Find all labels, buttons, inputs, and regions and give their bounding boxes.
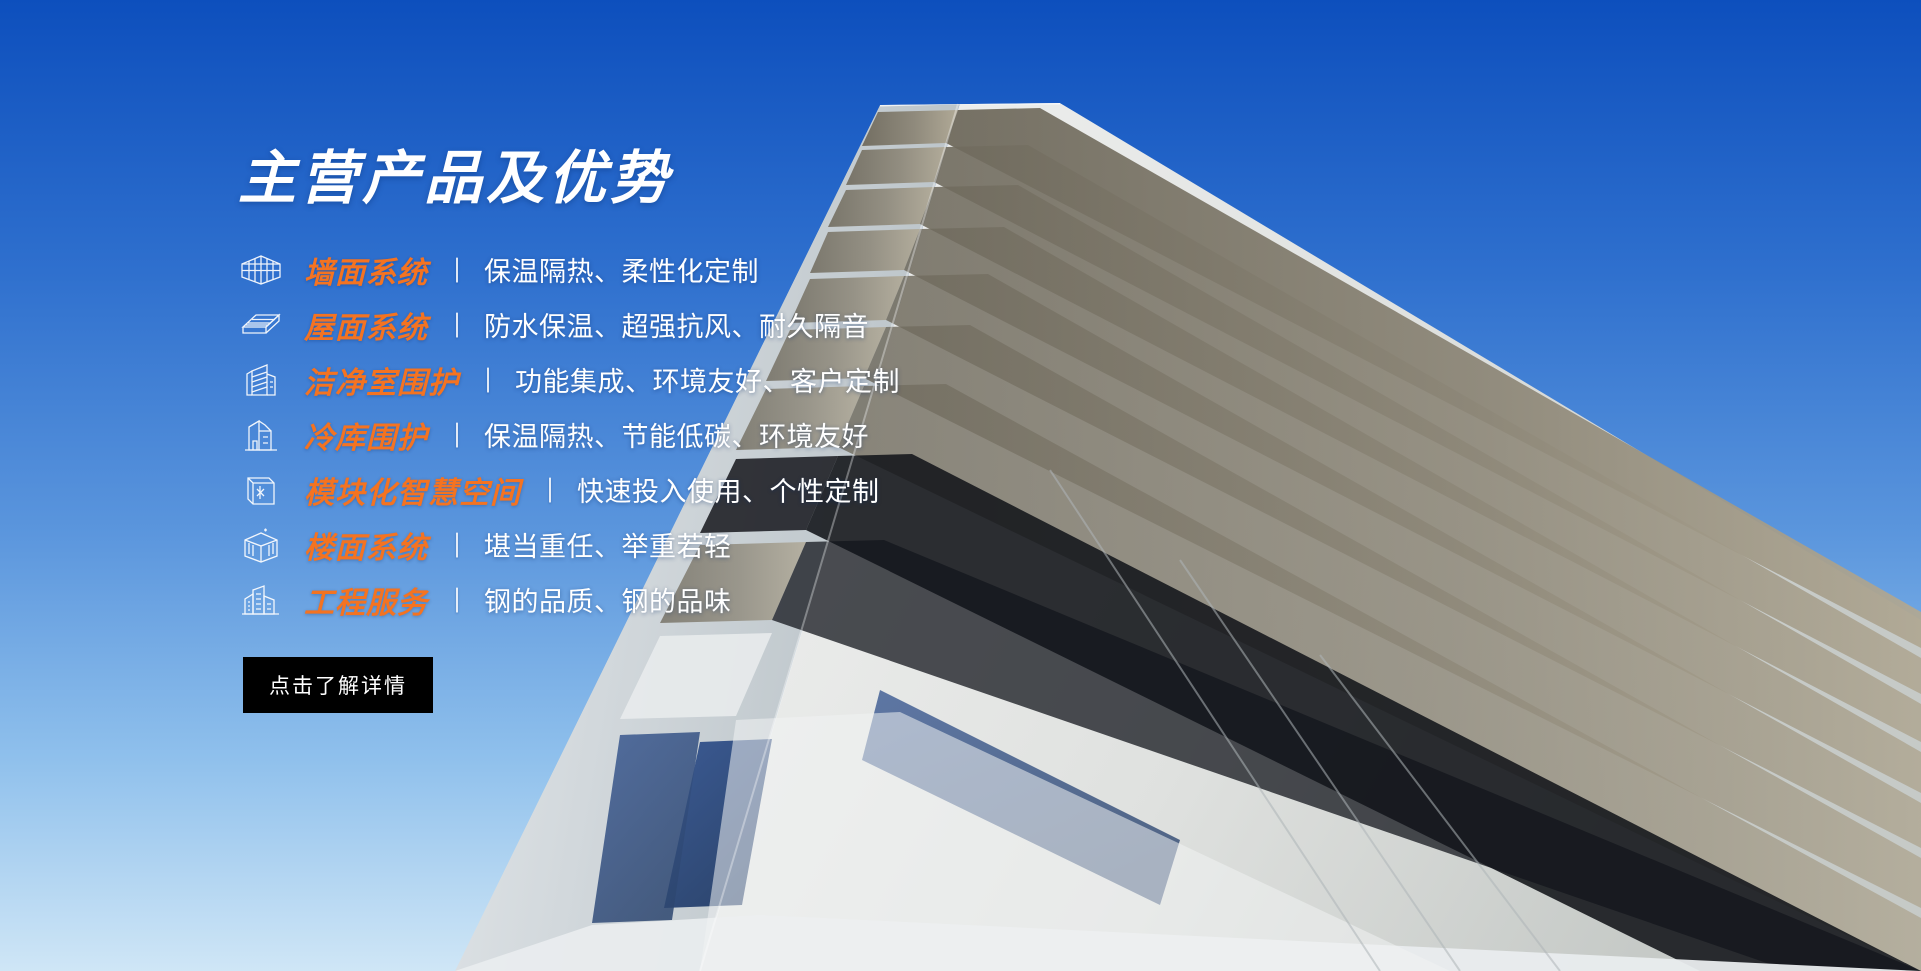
feature-name: 墙面系统 [304,248,428,292]
engineering-service-icon [238,580,284,620]
product-feature-list: 墙面系统 丨 保温隔热、柔性化定制 屋面系统 丨 防水保温、超强抗风、耐久隔音 [238,242,1138,627]
list-item[interactable]: 屋面系统 丨 防水保温、超强抗风、耐久隔音 [238,297,1138,352]
feature-separator: 丨 [450,526,464,563]
list-item[interactable]: 工程服务 丨 钢的品质、钢的品味 [238,572,1138,627]
list-item[interactable]: 洁净室围护 丨 功能集成、环境友好、客户定制 [238,352,1138,407]
list-item[interactable]: 楼面系统 丨 堪当重任、举重若轻 [238,517,1138,572]
feature-separator: 丨 [481,361,495,398]
cold-storage-icon [238,415,284,455]
feature-name: 工程服务 [304,578,428,622]
feature-name: 模块化智慧空间 [304,468,521,512]
floor-deck-icon [238,525,284,565]
feature-separator: 丨 [450,251,464,288]
feature-description: 功能集成、环境友好、客户定制 [515,360,900,399]
feature-separator: 丨 [450,581,464,618]
feature-description: 防水保温、超强抗风、耐久隔音 [484,305,869,344]
cleanroom-building-icon [238,360,284,400]
feature-description: 快速投入使用、个性定制 [577,470,880,509]
page-title: 主营产品及优势 [238,150,1138,208]
list-item[interactable]: 墙面系统 丨 保温隔热、柔性化定制 [238,242,1138,297]
feature-description: 保温隔热、柔性化定制 [484,250,759,289]
feature-separator: 丨 [450,416,464,453]
banner-content: 主营产品及优势 墙面系统 丨 保温隔热、柔性化定制 [238,150,1138,713]
feature-description: 保温隔热、节能低碳、环境友好 [484,415,869,454]
roof-panel-icon [238,305,284,345]
feature-description: 钢的品质、钢的品味 [484,580,732,619]
feature-description: 堪当重任、举重若轻 [484,525,732,564]
list-item[interactable]: 模块化智慧空间 丨 快速投入使用、个性定制 [238,462,1138,517]
feature-name: 洁净室围护 [304,358,459,402]
modular-cube-icon [238,470,284,510]
wall-panel-icon [238,250,284,290]
learn-more-button[interactable]: 点击了解详情 [243,657,433,713]
feature-separator: 丨 [543,471,557,508]
feature-separator: 丨 [450,306,464,343]
list-item[interactable]: 冷库围护 丨 保温隔热、节能低碳、环境友好 [238,407,1138,462]
hero-banner: 主营产品及优势 墙面系统 丨 保温隔热、柔性化定制 [0,0,1921,971]
feature-name: 冷库围护 [304,413,428,457]
feature-name: 屋面系统 [304,303,428,347]
feature-name: 楼面系统 [304,523,428,567]
